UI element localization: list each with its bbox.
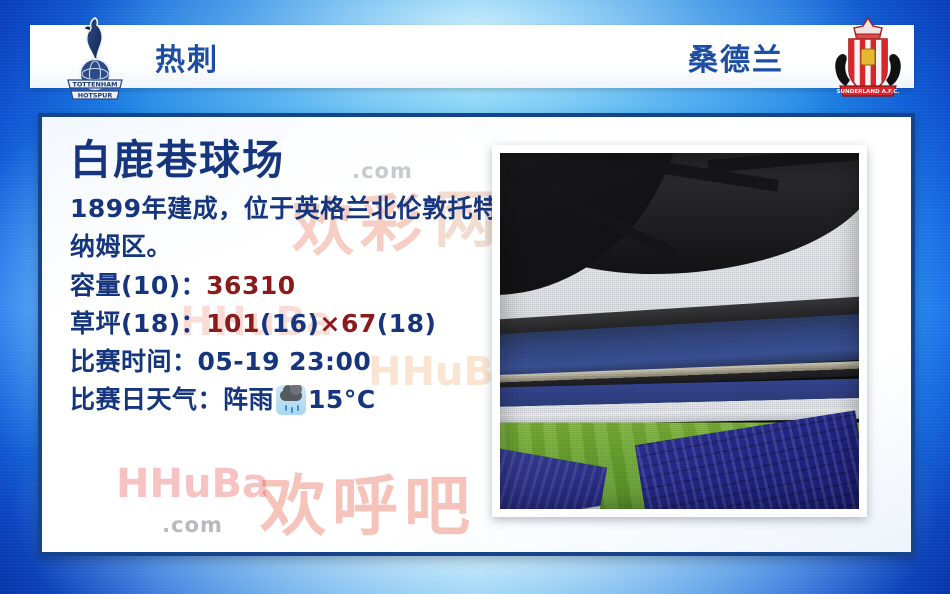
pitch-label: 草坪(18)： <box>70 309 206 338</box>
kickoff-value: 05-19 23:00 <box>198 347 372 376</box>
kickoff-row: 比赛时间：05-19 23:00 <box>70 343 500 381</box>
weather-label: 比赛日天气： <box>70 385 223 414</box>
watermark-cn-bottom: 欢呼吧 <box>260 453 476 549</box>
pitch-separator: × <box>320 309 341 338</box>
pitch-width: 67 <box>341 309 377 338</box>
stadium-name: 白鹿巷球场 <box>70 137 500 184</box>
crest-scroll-top: TOTTENHAM <box>72 80 117 88</box>
capacity-value: 36310 <box>206 271 295 300</box>
match-header-bar: 热刺 桑德兰 <box>30 25 914 88</box>
pitch-width-rank: (18) <box>377 309 437 338</box>
pitch-length-rank: (16) <box>260 309 320 338</box>
capacity-label: 容量(10)： <box>70 271 206 300</box>
crest-banner-text: SUNDERLAND A.F.C. <box>836 89 899 95</box>
watermark-brand-domain: .com <box>90 513 295 537</box>
stadium-photo <box>500 153 859 509</box>
weather-temp: 15°C <box>308 385 376 414</box>
stadium-info-block: 白鹿巷球场 1899年建成，位于英格兰北伦敦托特纳姆区。 容量(10)：3631… <box>70 137 500 419</box>
sunderland-afc-crest-icon: SUNDERLAND A.F.C. <box>832 16 904 104</box>
content-panel: .com .com HHuBa .com HHuBa HHuBa 欢 彩 网 欢… <box>38 113 915 556</box>
tottenham-hotspur-crest-icon: TOTTENHAM HOTSPUR <box>64 14 126 104</box>
watermark-brand-latin: HHuBa <box>90 461 295 507</box>
away-team-name: 桑德兰 <box>688 35 784 79</box>
weather-row: 比赛日天气：阵雨15°C <box>70 381 500 419</box>
pitch-row: 草坪(18)：101(16)×67(18) <box>70 305 500 343</box>
stadium-photo-frame <box>492 145 867 517</box>
home-team-name: 热刺 <box>155 35 219 79</box>
weather-condition: 阵雨 <box>223 385 274 414</box>
capacity-row: 容量(10)：36310 <box>70 267 500 305</box>
rain-shower-icon <box>276 385 306 415</box>
watermark-bubble-main: HHuBa .com <box>90 427 315 552</box>
match-info-card: 热刺 桑德兰 TOTTENHAM HOTSPUR <box>0 0 950 594</box>
pitch-length: 101 <box>206 309 260 338</box>
crest-scroll-bottom: HOTSPUR <box>78 91 113 99</box>
kickoff-label: 比赛时间： <box>70 347 198 376</box>
stadium-description: 1899年建成，位于英格兰北伦敦托特纳姆区。 <box>70 190 500 265</box>
